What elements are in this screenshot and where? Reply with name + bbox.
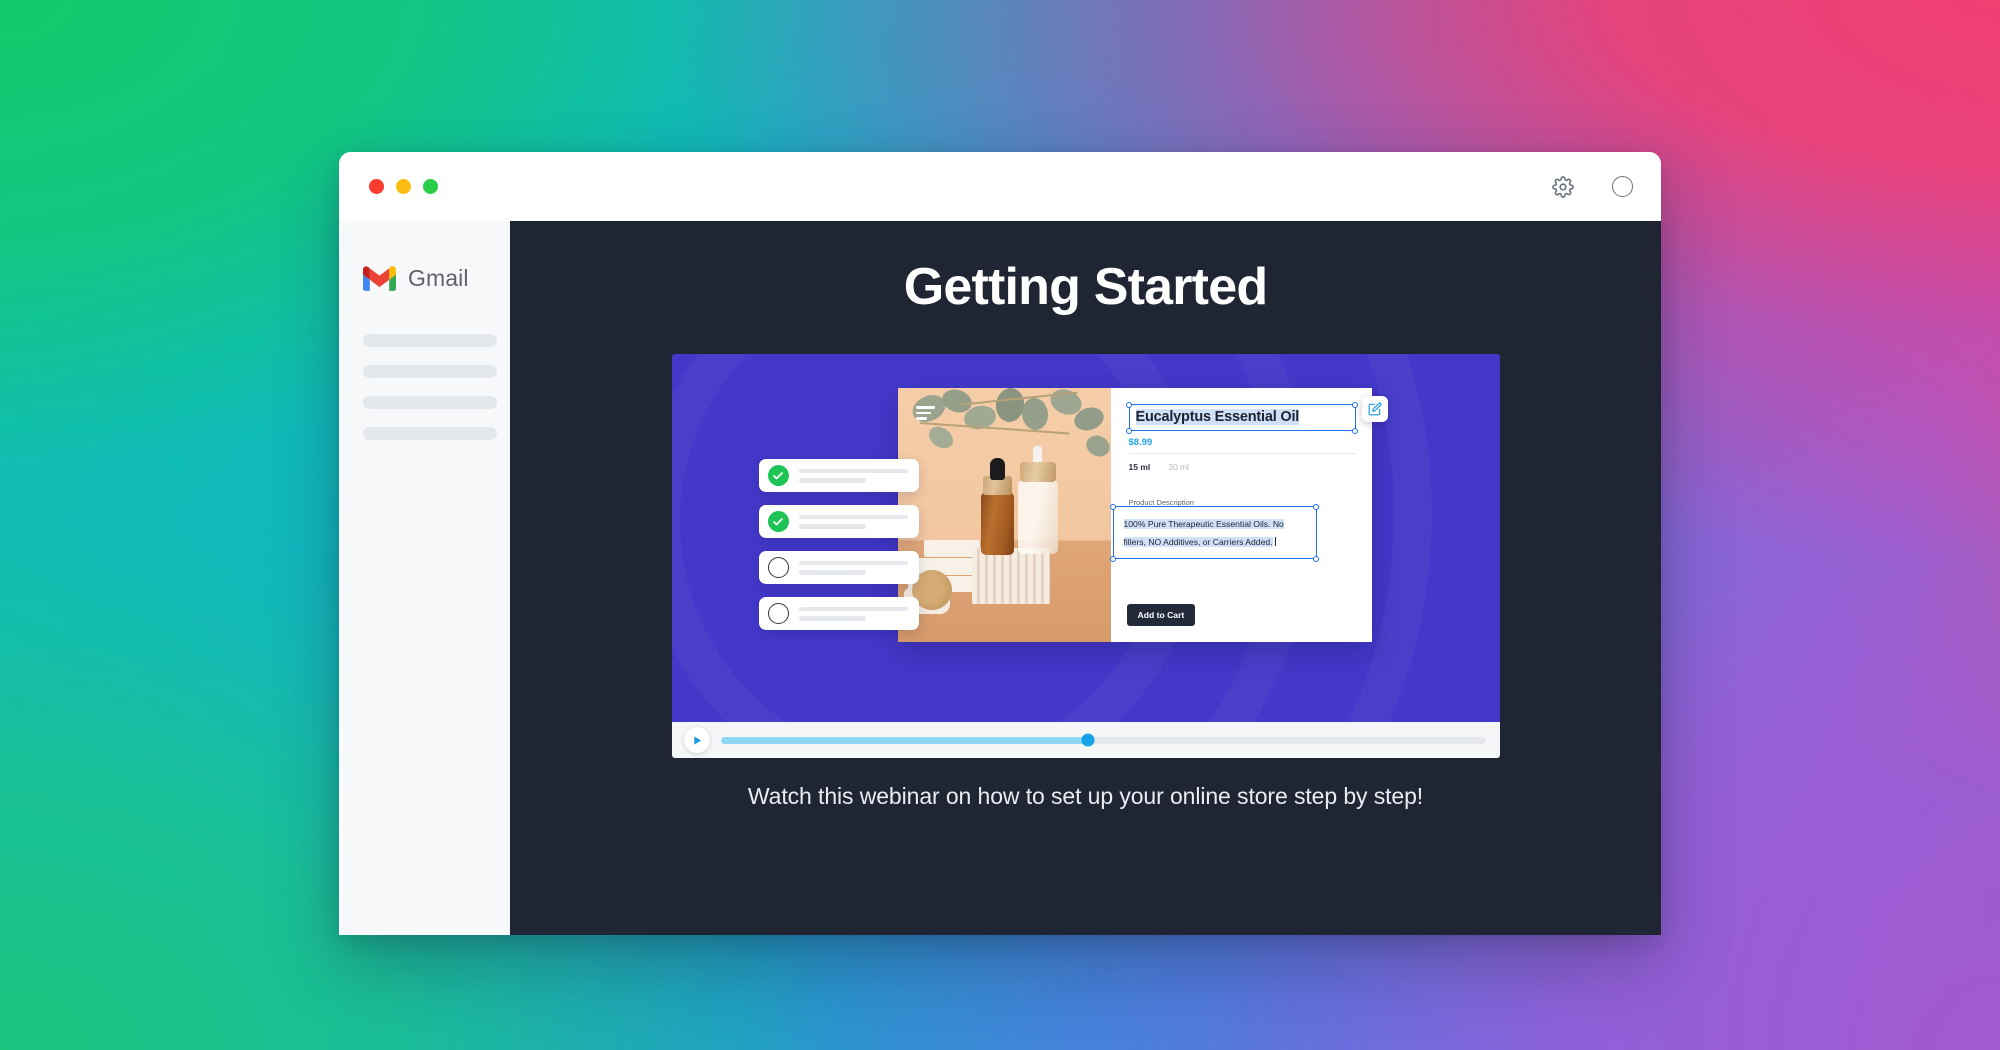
variant-selector[interactable]: 15 ml 30 ml [1129,462,1356,472]
sidebar: Gmail [339,221,510,935]
sidebar-item-placeholder[interactable] [363,334,497,347]
gear-icon[interactable] [1552,176,1574,198]
sidebar-nav-placeholders [339,334,510,440]
product-description-editor[interactable]: 100% Pure Therapeutic Essential Oils. No… [1113,506,1317,559]
checklist-item[interactable] [759,459,919,492]
video-controls-bar [672,722,1500,758]
sidebar-item-placeholder[interactable] [363,427,497,440]
empty-circle-icon [768,603,789,624]
onboarding-checklist [759,459,919,630]
video-caption: Watch this webinar on how to set up your… [510,783,1661,810]
app-body: Gmail Getting Started [339,221,1661,935]
avatar-circle-icon[interactable] [1612,176,1633,197]
gmail-logo-icon [363,266,396,291]
video-stage[interactable]: Eucalyptus Essential Oil $8.99 15 ml 30 … [672,354,1500,722]
browser-window: Gmail Getting Started [339,152,1661,935]
main-content-panel: Getting Started [510,221,1661,935]
traffic-light-controls [369,179,438,194]
video-progress-track[interactable] [721,737,1486,744]
edit-pencil-icon[interactable] [1362,396,1388,422]
maximize-window-button[interactable] [423,179,438,194]
checklist-item-placeholder-text [799,607,908,621]
hamburger-menu-icon[interactable] [916,406,935,420]
product-price: $8.99 [1129,437,1356,448]
page-title: Getting Started [510,257,1661,317]
checklist-item-placeholder-text [799,515,908,529]
divider [1129,453,1356,454]
sidebar-item-placeholder[interactable] [363,396,497,409]
video-player[interactable]: Eucalyptus Essential Oil $8.99 15 ml 30 … [672,354,1500,758]
variant-option-30ml[interactable]: 30 ml [1168,462,1189,472]
variant-option-15ml[interactable]: 15 ml [1129,462,1151,472]
empty-circle-icon [768,557,789,578]
play-triangle-icon[interactable] [684,727,710,753]
product-photo [898,388,1111,642]
checkmark-icon [768,465,789,486]
sidebar-item-placeholder[interactable] [363,365,497,378]
checkmark-icon [768,511,789,532]
close-window-button[interactable] [369,179,384,194]
brand-label: Gmail [408,265,469,292]
checklist-item[interactable] [759,597,919,630]
checklist-item[interactable] [759,505,919,538]
store-preview-mock: Eucalyptus Essential Oil $8.99 15 ml 30 … [898,388,1372,642]
minimize-window-button[interactable] [396,179,411,194]
checklist-item[interactable] [759,551,919,584]
titlebar-actions [1552,176,1633,198]
product-description-text: 100% Pure Therapeutic Essential Oils. No… [1124,519,1284,547]
window-titlebar [339,152,1661,221]
product-title: Eucalyptus Essential Oil [1136,409,1300,425]
brand-area[interactable]: Gmail [339,265,510,292]
checklist-item-placeholder-text [799,561,908,575]
product-details: Eucalyptus Essential Oil $8.99 15 ml 30 … [1111,388,1372,642]
checklist-item-placeholder-text [799,469,908,483]
add-to-cart-button[interactable]: Add to Cart [1127,604,1196,626]
video-progress-thumb[interactable] [1081,734,1094,747]
video-progress-fill [721,737,1088,744]
product-title-selection[interactable]: Eucalyptus Essential Oil [1129,404,1356,431]
